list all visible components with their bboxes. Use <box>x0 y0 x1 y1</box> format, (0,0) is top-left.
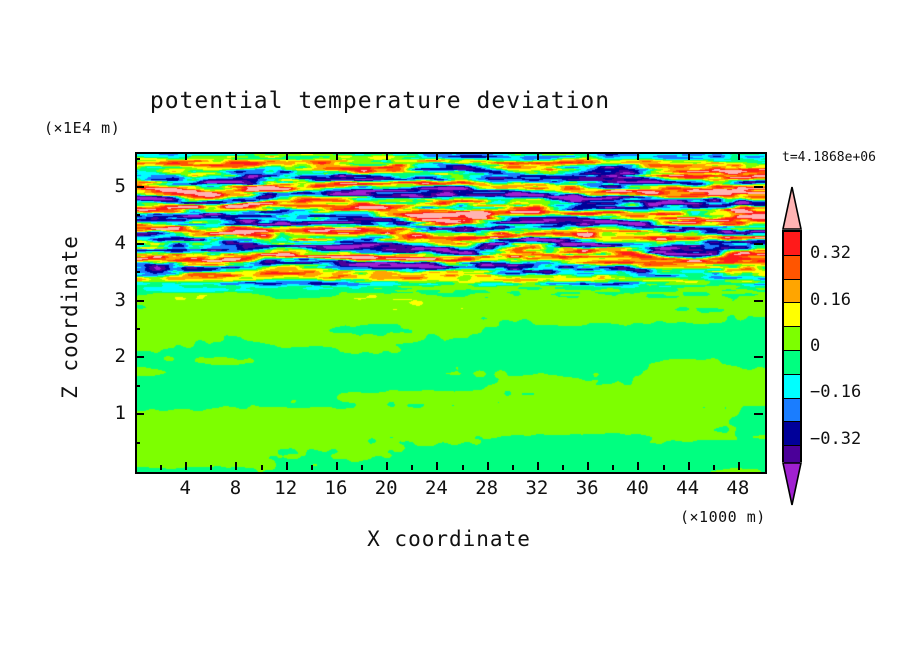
colorbar-band <box>784 279 800 303</box>
x-axis-tick <box>688 462 690 470</box>
x-axis-tick <box>537 462 539 470</box>
x-axis-tick-label: 44 <box>676 477 699 499</box>
colorbar-bottom-arrow-icon <box>782 462 802 506</box>
y-axis-tick-label: 3 <box>100 289 126 311</box>
x-axis-minor-tick <box>411 465 413 470</box>
x-axis-tick <box>386 152 388 160</box>
y-axis-tick-label: 4 <box>100 232 126 254</box>
y-axis-minor-tick <box>135 328 140 330</box>
y-axis-tick <box>135 356 144 358</box>
x-axis-tick <box>587 152 589 160</box>
y-axis-minor-tick <box>135 158 140 160</box>
x-axis-tick <box>487 152 489 160</box>
colorbar-band <box>784 421 800 445</box>
x-axis-tick-label: 48 <box>726 477 749 499</box>
y-axis-minor-tick <box>135 271 140 273</box>
colorbar: 0.320.160−0.16−0.32 <box>782 188 802 504</box>
colorbar-top-arrow-icon <box>782 186 802 230</box>
y-axis-title: Z coordinate <box>58 217 82 417</box>
y-axis-tick <box>135 300 144 302</box>
figure-root: potential temperature deviation (×1E4 m)… <box>0 0 904 654</box>
x-axis-tick <box>336 462 338 470</box>
x-axis-minor-tick <box>562 465 564 470</box>
colorbar-band <box>784 302 800 326</box>
colorbar-band <box>784 232 800 255</box>
x-axis-minor-tick <box>713 465 715 470</box>
x-axis-tick-label: 32 <box>525 477 548 499</box>
y-axis-tick <box>754 186 763 188</box>
x-axis-tick <box>235 152 237 160</box>
x-axis-minor-tick <box>311 465 313 470</box>
x-axis-minor-tick <box>261 465 263 470</box>
y-axis-tick <box>754 413 763 415</box>
x-axis-tick-label: 4 <box>180 477 191 499</box>
y-axis-unit-label: (×1E4 m) <box>44 119 120 137</box>
x-axis-unit-label: (×1000 m) <box>680 508 766 526</box>
x-axis-minor-tick <box>361 465 363 470</box>
colorbar-band <box>784 326 800 350</box>
x-axis-tick-label: 12 <box>274 477 297 499</box>
y-axis-tick <box>754 243 763 245</box>
x-axis-tick <box>738 152 740 160</box>
x-axis-tick <box>537 152 539 160</box>
x-axis-tick <box>487 462 489 470</box>
x-axis-tick-label: 16 <box>325 477 348 499</box>
colorbar-tick-label: −0.16 <box>810 382 861 402</box>
x-axis-minor-tick <box>512 465 514 470</box>
x-axis-tick <box>436 152 438 160</box>
y-axis-minor-tick <box>135 385 140 387</box>
x-axis-tick-label: 24 <box>425 477 448 499</box>
colorbar-band <box>784 350 800 374</box>
contour-plot-area <box>135 152 767 474</box>
x-axis-title: X coordinate <box>135 527 763 551</box>
colorbar-tick-label: 0.32 <box>810 243 851 263</box>
x-axis-tick <box>286 152 288 160</box>
x-axis-tick-label: 20 <box>375 477 398 499</box>
y-axis-minor-tick <box>135 442 140 444</box>
x-axis-tick <box>185 462 187 470</box>
x-axis-tick <box>436 462 438 470</box>
x-axis-tick <box>336 152 338 160</box>
x-axis-tick <box>637 152 639 160</box>
time-annotation: t=4.1868e+06 <box>782 150 876 165</box>
x-axis-minor-tick <box>663 465 665 470</box>
x-axis-tick-label: 40 <box>626 477 649 499</box>
x-axis-tick <box>587 462 589 470</box>
y-axis-tick <box>135 243 144 245</box>
y-axis-tick-label: 2 <box>100 345 126 367</box>
y-axis-tick <box>135 413 144 415</box>
y-axis-minor-tick <box>135 214 140 216</box>
colorbar-band <box>784 398 800 422</box>
temperature-deviation-field <box>137 154 765 472</box>
x-axis-tick-label: 8 <box>230 477 241 499</box>
x-axis-tick-label: 28 <box>475 477 498 499</box>
y-axis-tick <box>754 300 763 302</box>
colorbar-band <box>784 374 800 398</box>
x-axis-tick <box>688 152 690 160</box>
y-axis-tick-label: 1 <box>100 402 126 424</box>
chart-title: potential temperature deviation <box>0 88 760 114</box>
x-axis-minor-tick <box>462 465 464 470</box>
x-axis-minor-tick <box>160 465 162 470</box>
x-axis-tick <box>386 462 388 470</box>
x-axis-minor-tick <box>612 465 614 470</box>
y-axis-tick <box>754 356 763 358</box>
colorbar-band <box>784 255 800 279</box>
x-axis-tick <box>738 462 740 470</box>
colorbar-tick-label: −0.32 <box>810 429 861 449</box>
x-axis-tick <box>235 462 237 470</box>
x-axis-tick <box>185 152 187 160</box>
y-axis-tick <box>135 186 144 188</box>
x-axis-minor-tick <box>210 465 212 470</box>
x-axis-tick <box>286 462 288 470</box>
y-axis-tick-label: 5 <box>100 175 126 197</box>
x-axis-tick <box>637 462 639 470</box>
colorbar-bands <box>782 230 802 462</box>
colorbar-tick-label: 0 <box>810 336 820 356</box>
x-axis-tick-label: 36 <box>576 477 599 499</box>
colorbar-tick-label: 0.16 <box>810 290 851 310</box>
